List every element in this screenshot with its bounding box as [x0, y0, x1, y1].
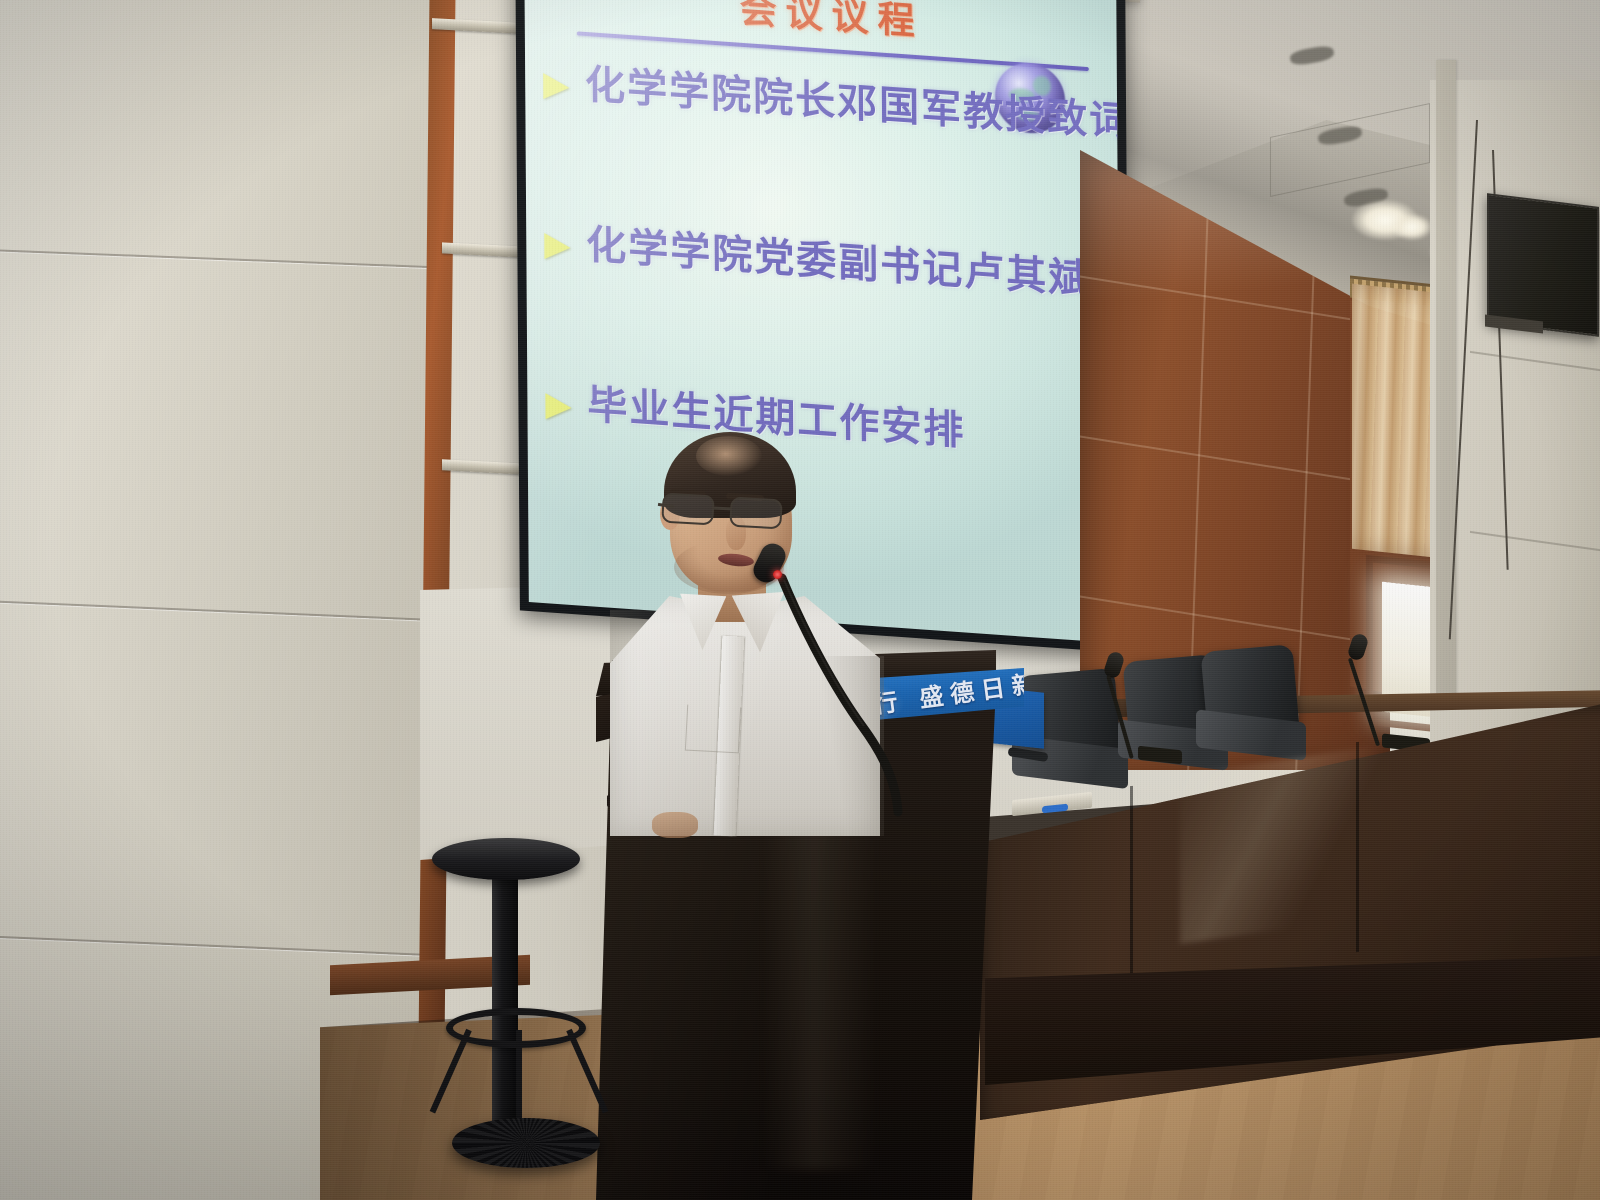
- stage-table-seam: [1130, 786, 1133, 986]
- agenda-bullet-label: 化学学院党委副书记卢其斌老师讲话: [586, 224, 1121, 313]
- arrow-right-icon: [545, 393, 571, 421]
- agenda-bullet: 化学学院党委副书记卢其斌老师讲话: [544, 221, 1121, 313]
- arrow-right-icon: [543, 73, 569, 101]
- microphone-icon: [1348, 634, 1438, 754]
- loudspeaker-icon: [1487, 193, 1599, 337]
- speaker-person: [590, 420, 930, 820]
- stool-spokes: [446, 1022, 592, 1132]
- hand: [652, 812, 698, 838]
- microphone-led-indicator: [773, 570, 782, 579]
- hair-highlight: [696, 436, 762, 476]
- microphone-icon: [1104, 652, 1194, 762]
- light-icon: [1392, 214, 1432, 240]
- auditorium-photo: 会议议程 化学学院院长邓国军教授致词 化学学院党委副书记卢其斌老师讲话: [0, 0, 1600, 1200]
- arrow-right-icon: [544, 233, 570, 261]
- eyeglasses-icon: [662, 494, 806, 528]
- table-pen: [1042, 804, 1068, 814]
- wall-pillar: [1436, 60, 1456, 700]
- stage-table-seam: [1356, 742, 1359, 952]
- stool-seat: [432, 838, 580, 880]
- stage-table-glint: [1180, 746, 1380, 944]
- stool-base: [452, 1118, 600, 1168]
- shirt-pocket: [685, 705, 741, 754]
- arm-shadow: [818, 656, 884, 836]
- slide-title: 会议议程: [739, 0, 923, 46]
- left-wall: [0, 0, 460, 1200]
